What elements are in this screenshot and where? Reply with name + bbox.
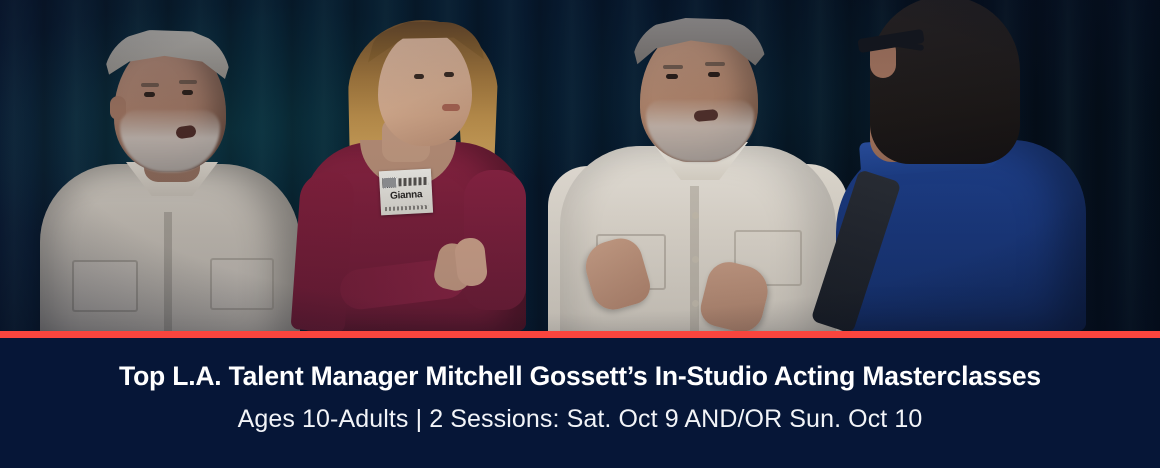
name-tag-name: Gianna <box>380 189 433 203</box>
red-divider-bar <box>0 331 1160 338</box>
person-mitchell-gossett <box>548 18 848 331</box>
gossett-eye-left <box>666 74 678 79</box>
hero-photo: Gianna <box>0 0 1160 331</box>
person-young-woman: Gianna <box>296 12 528 331</box>
person-right-student <box>836 0 1092 331</box>
gossett-shirt-button-1 <box>692 212 699 219</box>
left-man-eye-left <box>144 92 155 97</box>
gossett-shirt-button-2 <box>692 256 699 263</box>
woman-eye-right <box>444 72 454 77</box>
left-man-shirt-placket <box>164 212 172 331</box>
woman-arm-left <box>291 170 356 331</box>
student-hair <box>870 0 1020 164</box>
banner-headline: Top L.A. Talent Manager Mitchell Gossett… <box>0 338 1160 391</box>
banner-subhead: Ages 10-Adults | 2 Sessions: Sat. Oct 9 … <box>0 391 1160 434</box>
name-tag-barcode <box>382 177 397 188</box>
name-tag-header-text <box>398 177 428 187</box>
woman-name-tag: Gianna <box>379 169 433 216</box>
woman-eye-left <box>414 74 424 79</box>
gossett-shirt-button-3 <box>692 300 699 307</box>
left-man-brow-left <box>141 83 159 87</box>
person-left-man <box>40 22 300 331</box>
left-man-eye-right <box>182 90 193 95</box>
gossett-brow-right <box>705 62 725 66</box>
woman-lips <box>442 104 460 111</box>
left-man-pocket-left <box>72 260 138 312</box>
gossett-brow-left <box>663 65 683 69</box>
left-man-pocket-right <box>210 258 274 310</box>
banner-text-bar: Top L.A. Talent Manager Mitchell Gossett… <box>0 338 1160 468</box>
name-tag-footer-text <box>385 205 429 211</box>
woman-hand-right <box>454 237 489 288</box>
gossett-eye-right <box>708 72 720 77</box>
acting-masterclass-banner: Gianna <box>0 0 1160 468</box>
left-man-brow-right <box>179 80 197 84</box>
